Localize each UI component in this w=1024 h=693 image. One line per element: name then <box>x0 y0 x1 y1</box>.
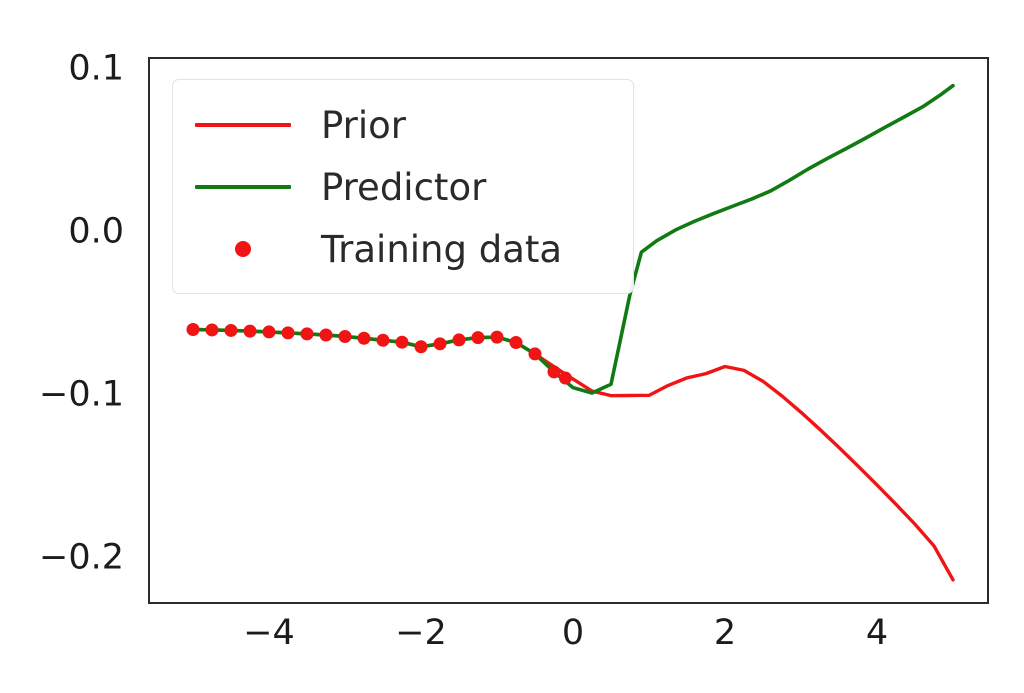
ytick-label-0: 0.1 <box>0 52 124 87</box>
xtick-label-1: −2 <box>395 616 447 651</box>
xtick-label-3: 2 <box>714 616 736 651</box>
ytick-label-3: −0.2 <box>0 541 124 576</box>
chart-legend: Prior Predictor Training data <box>172 79 634 294</box>
xtick-label-0: −4 <box>243 616 295 651</box>
legend-entry-training-data: Training data <box>191 218 615 280</box>
ytick-label-2: −0.1 <box>0 378 124 413</box>
legend-entry-predictor: Predictor <box>191 156 615 218</box>
ytick-label-1: 0.0 <box>0 215 124 250</box>
legend-label-prior: Prior <box>295 107 406 144</box>
xtick-label-2: 0 <box>562 616 584 651</box>
training-dot-icon <box>235 241 251 257</box>
legend-line-swatch-prior <box>191 123 295 127</box>
legend-label-training-data: Training data <box>295 231 562 268</box>
legend-entry-prior: Prior <box>191 94 615 156</box>
legend-marker-swatch-training <box>191 241 295 257</box>
predictor-line-icon <box>195 185 291 189</box>
legend-label-predictor: Predictor <box>295 169 486 206</box>
legend-line-swatch-predictor <box>191 185 295 189</box>
xtick-label-4: 4 <box>866 616 888 651</box>
chart-figure: 0.1 0.0 −0.1 −0.2 −4 −2 0 2 4 Prior Pred… <box>0 0 1024 693</box>
prior-line-icon <box>195 123 291 127</box>
